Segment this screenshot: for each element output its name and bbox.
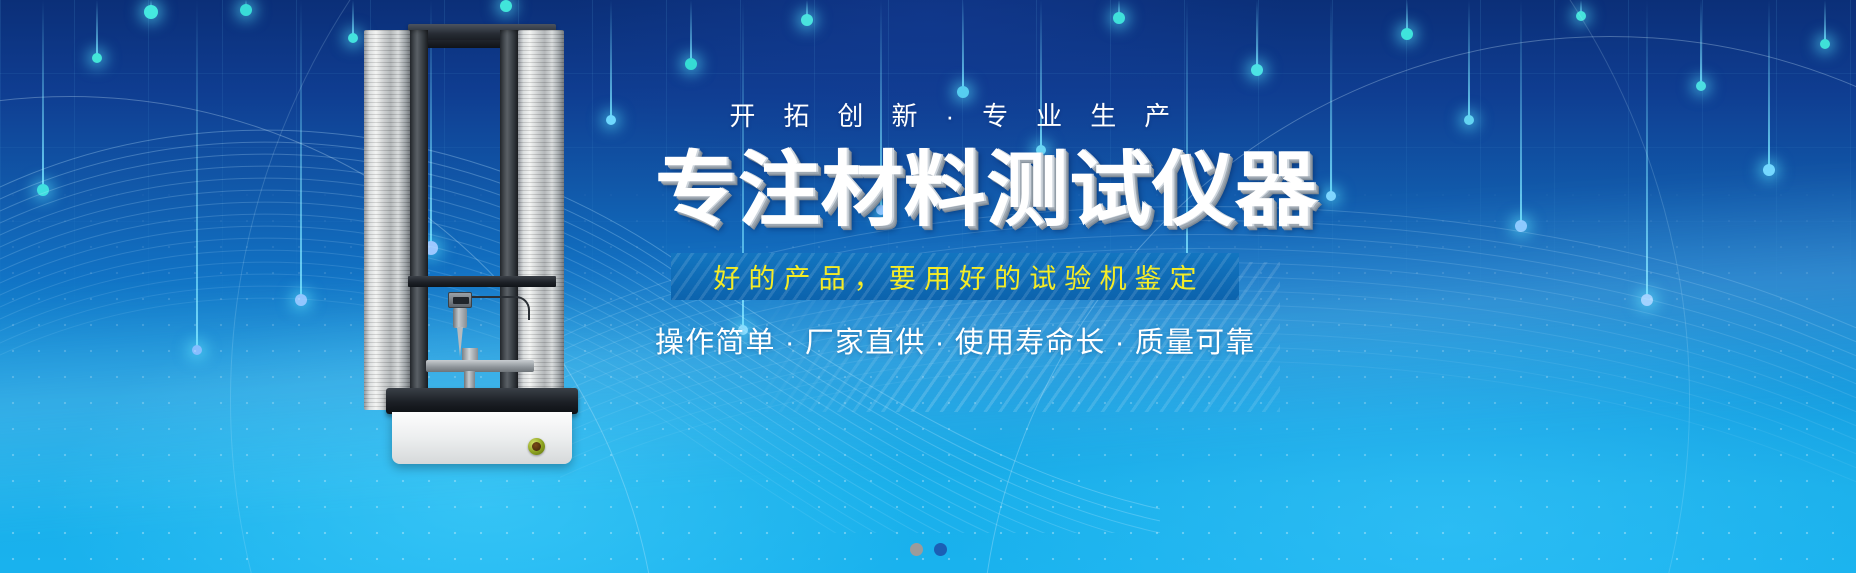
banner-copy-block: 开 拓 创 新 · 专 业 生 产 专注材料测试仪器 好的产品，要用好的试验机鉴… (655, 96, 1255, 361)
banner-headline: 专注材料测试仪器 (655, 149, 1255, 233)
machine-guide-rail-left (410, 30, 428, 410)
machine-base-table (386, 388, 578, 414)
light-string (1824, 0, 1826, 44)
carousel-pagination[interactable] (0, 543, 1856, 556)
carousel-dot-1[interactable] (910, 543, 923, 556)
banner-eyebrow: 开 拓 创 新 · 专 业 生 产 (655, 96, 1255, 133)
machine-column-left (364, 30, 410, 410)
machine-test-fixture (426, 360, 534, 372)
machine-base-cabinet (392, 412, 572, 464)
hero-banner-slide[interactable]: 开 拓 创 新 · 专 业 生 产 专注材料测试仪器 好的产品，要用好的试验机鉴… (0, 0, 1856, 573)
carousel-dot-2[interactable] (934, 543, 947, 556)
banner-subline: 操作简单 · 厂家直供 · 使用寿命长 · 质量可靠 (655, 319, 1255, 361)
machine-sensor-cable (470, 296, 530, 320)
machine-moving-crossbar (408, 276, 556, 287)
light-bead-icon (1820, 39, 1830, 49)
machine-load-cell-display (448, 292, 472, 308)
banner-ribbon-text: 好的产品，要用好的试验机鉴定 (705, 257, 1205, 296)
machine-guide-rail-right (500, 30, 518, 410)
machine-column-right (518, 30, 564, 410)
machine-probe-body (453, 308, 467, 328)
universal-testing-machine-image (352, 14, 576, 462)
banner-ribbon: 好的产品，要用好的试验机鉴定 (671, 253, 1239, 300)
machine-power-knob (528, 438, 545, 455)
